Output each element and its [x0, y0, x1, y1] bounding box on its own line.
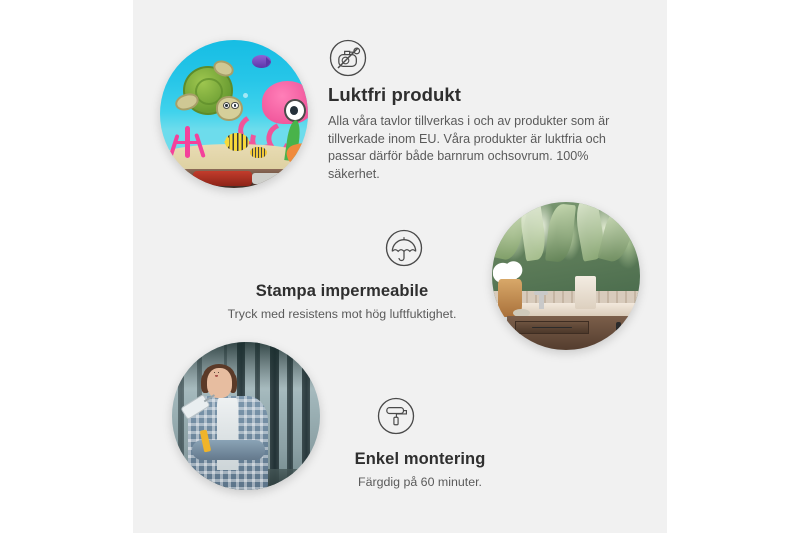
- feature-waterproof: Stampa impermeabile Tryck med resistens …: [210, 228, 474, 323]
- turtle-illustration: [178, 64, 243, 126]
- feature-odour-free: Luktfri produkt Alla våra tavlor tillver…: [328, 38, 628, 183]
- product-image-bathroom[interactable]: [492, 202, 640, 350]
- coral-illustration: [167, 126, 211, 164]
- umbrella-icon: [384, 228, 424, 268]
- woman-with-roller: [187, 366, 270, 490]
- vanity-cabinet: [507, 316, 640, 350]
- product-image-forest[interactable]: [172, 342, 320, 490]
- feature-title: Luktfri produkt: [328, 84, 628, 106]
- feature-title: Enkel montering: [300, 449, 540, 469]
- fish-yellow: [225, 133, 249, 151]
- fish-purple: [252, 55, 271, 68]
- feature-easy-mounting: Enkel montering Färgdig på 60 minuter.: [300, 396, 540, 491]
- feature-body: Färgdig på 60 minuter.: [300, 474, 540, 491]
- towel: [575, 276, 596, 309]
- paint-roller-icon: [376, 396, 416, 436]
- no-fragrance-icon: [328, 38, 368, 78]
- feature-title: Stampa impermeabile: [210, 281, 474, 301]
- screenshot-root: Luktfri produkt Alla våra tavlor tillver…: [0, 0, 800, 533]
- feature-body: Tryck med resistens mot hög luftfuktighe…: [210, 306, 474, 323]
- room-strip: [160, 169, 308, 188]
- faucet: [539, 291, 543, 309]
- feature-body: Alla våra tavlor tillverkas i och av pro…: [328, 113, 628, 183]
- fish-small: [250, 147, 266, 159]
- product-image-sea[interactable]: [160, 40, 308, 188]
